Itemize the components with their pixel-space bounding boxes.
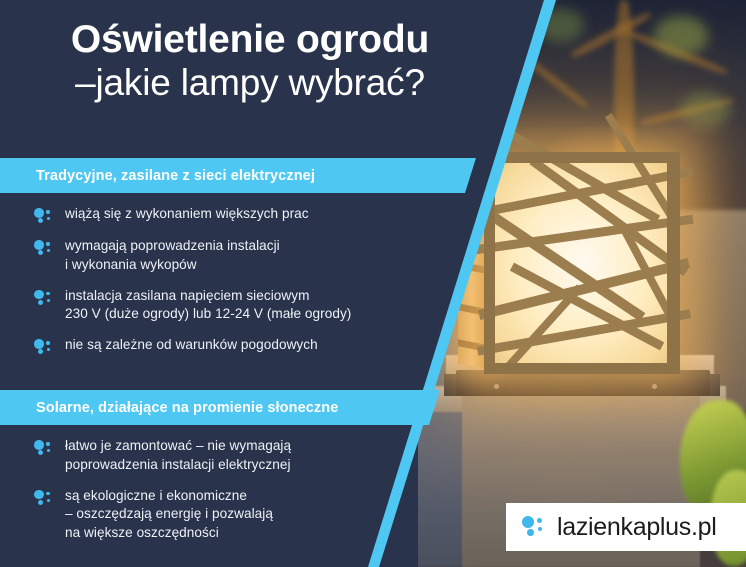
dots-cluster-icon	[34, 490, 54, 507]
foliage-blob	[654, 16, 708, 56]
foliage-blob	[680, 92, 730, 128]
list-item: wiążą się z wykonaniem większych prac	[34, 205, 454, 225]
dots-cluster-icon	[522, 516, 548, 538]
list-item-text: instalacja zasilana napięciem sieciowym …	[65, 287, 351, 325]
section-header-label: Tradycyjne, zasilane z sieci elektryczne…	[36, 168, 315, 184]
dots-cluster-icon	[34, 339, 54, 356]
bullet-list-traditional: wiążą się z wykonaniem większych prac wy…	[34, 205, 454, 368]
list-item-text: wiążą się z wykonaniem większych prac	[65, 205, 309, 224]
dots-cluster-icon	[34, 208, 54, 225]
infographic-canvas: Oświetlenie ogrodu –jakie lampy wybrać? …	[0, 0, 746, 567]
list-item: wymagają poprowadzenia instalacji i wyko…	[34, 237, 454, 275]
list-item-text: są ekologiczne i ekonomiczne – oszczędza…	[65, 487, 273, 543]
brand-logo-text: lazienkaplus.pl	[557, 513, 717, 542]
dots-cluster-icon	[34, 240, 54, 257]
garden-lamp	[484, 152, 680, 374]
lamp-frame	[484, 152, 680, 374]
list-item: łatwo je zamontować – nie wymagają popro…	[34, 437, 454, 475]
page-title: Oświetlenie ogrodu –jakie lampy wybrać?	[0, 18, 500, 104]
list-item-text: nie są zależne od warunków pogodowych	[65, 336, 318, 355]
section-header-traditional: Tradycyjne, zasilane z sieci elektryczne…	[0, 158, 476, 193]
list-item: instalacja zasilana napięciem sieciowym …	[34, 287, 454, 325]
brand-logo[interactable]: lazienkaplus.pl	[506, 503, 746, 551]
base-screw	[652, 384, 657, 389]
list-item-text: wymagają poprowadzenia instalacji i wyko…	[65, 237, 280, 275]
section-header-solar: Solarne, działające na promienie słonecz…	[0, 390, 440, 425]
bullet-list-solar: łatwo je zamontować – nie wymagają popro…	[34, 437, 454, 555]
section-header-label: Solarne, działające na promienie słonecz…	[36, 400, 338, 416]
dots-cluster-icon	[34, 440, 54, 457]
list-item-text: łatwo je zamontować – nie wymagają popro…	[65, 437, 291, 475]
base-screw	[494, 384, 499, 389]
dots-cluster-icon	[34, 290, 54, 307]
list-item: są ekologiczne i ekonomiczne – oszczędza…	[34, 487, 454, 543]
title-line-1: Oświetlenie ogrodu	[0, 18, 500, 62]
title-line-2: –jakie lampy wybrać?	[0, 62, 500, 105]
list-item: nie są zależne od warunków pogodowych	[34, 336, 454, 356]
